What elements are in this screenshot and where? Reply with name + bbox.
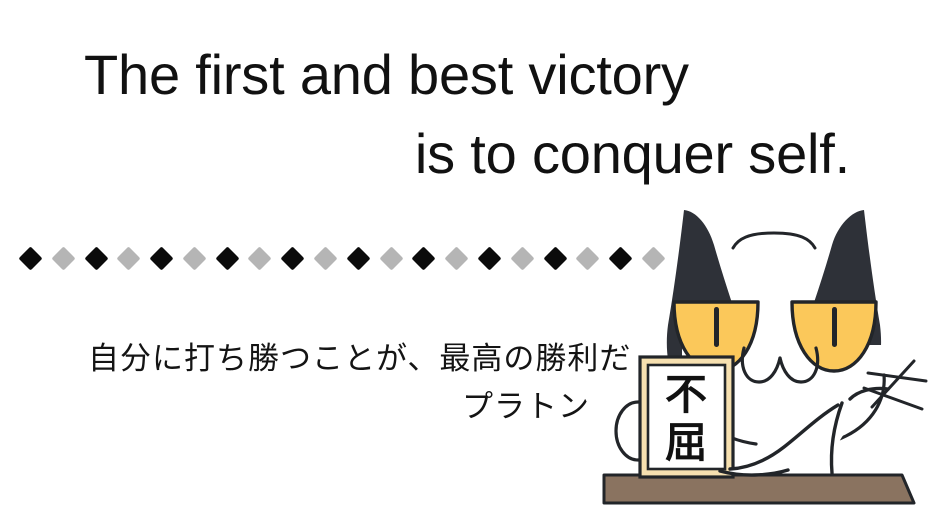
divider-diamond [248, 246, 272, 270]
english-quote-line-1: The first and best victory [0, 47, 880, 103]
divider-diamond [215, 246, 239, 270]
divider-diamond [84, 246, 108, 270]
english-quote-line-2: is to conquer self. [0, 126, 880, 182]
desk [604, 475, 914, 503]
divider-diamond [281, 246, 305, 270]
divider-diamond [379, 246, 403, 270]
sign-char-bottom: 屈 [665, 418, 707, 467]
divider-diamond [445, 246, 469, 270]
divider-diamond [510, 246, 534, 270]
quote-card: The first and best victory is to conquer… [0, 0, 950, 523]
japanese-attribution: プラトン [88, 392, 590, 423]
sign-char-top: 不 [665, 370, 707, 419]
divider-diamond [314, 246, 338, 270]
sign-board: 不 屈 [640, 357, 733, 477]
japanese-quote-line: 自分に打ち勝つことが、最高の勝利だ [88, 344, 631, 375]
cat-pupil-right [832, 307, 837, 347]
divider-diamond [346, 246, 370, 270]
divider-diamond [412, 246, 436, 270]
diamond-divider [22, 243, 662, 273]
divider-diamond [477, 246, 501, 270]
divider-diamond [18, 246, 42, 270]
divider-diamond [543, 246, 567, 270]
divider-diamond [150, 246, 174, 270]
divider-diamond [117, 246, 141, 270]
divider-diamond [51, 246, 75, 270]
divider-diamond [182, 246, 206, 270]
calico-cat-illustration: 不 屈 [596, 185, 950, 523]
cat-pupil-left [714, 307, 719, 347]
